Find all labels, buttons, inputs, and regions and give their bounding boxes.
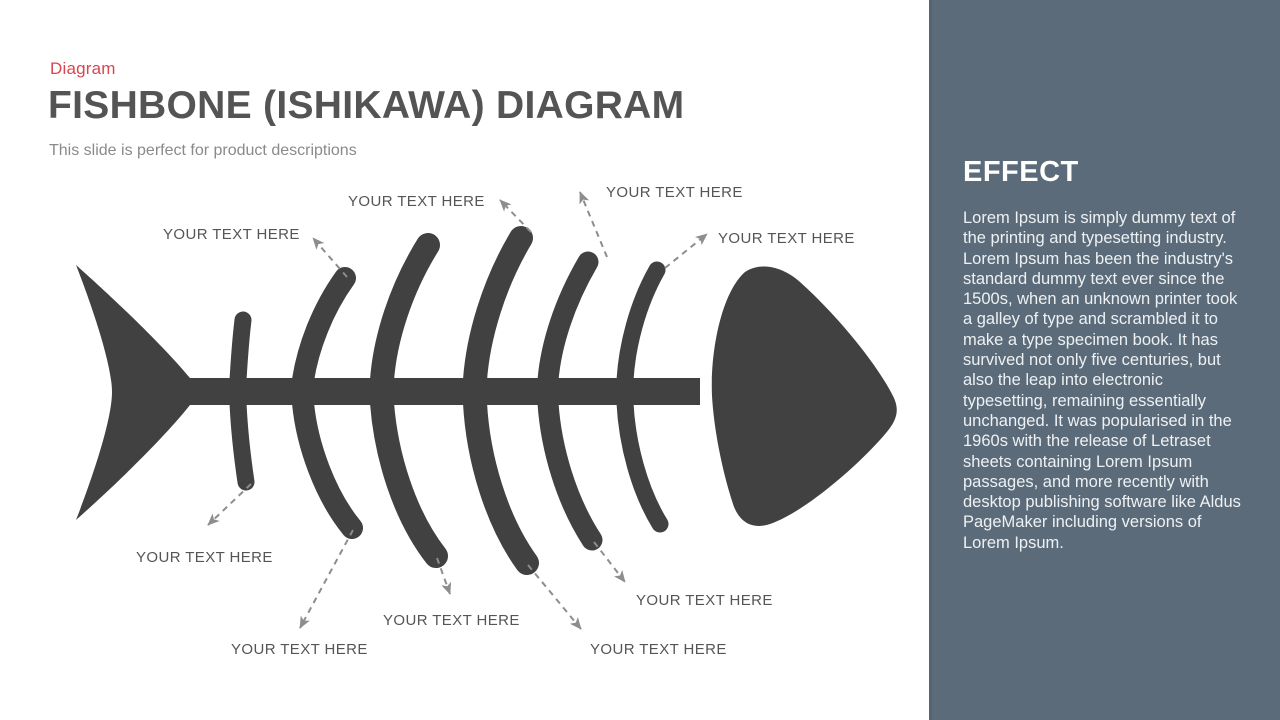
bone-label-bottom-2[interactable]: YOUR TEXT HERE: [231, 641, 368, 658]
rib-3-lower: [475, 403, 527, 563]
fishbone-diagram: YOUR TEXT HERE YOUR TEXT HERE YOUR TEXT …: [0, 0, 929, 720]
leader-bottom-4: [528, 565, 581, 629]
fish-tail-shape: [76, 265, 215, 520]
rib-5-upper: [625, 270, 657, 380]
rib-0-upper: [238, 320, 243, 380]
bone-label-top-4[interactable]: YOUR TEXT HERE: [718, 230, 855, 247]
rib-1-lower: [303, 403, 352, 528]
rib-4-lower: [548, 403, 592, 540]
rib-4-upper: [548, 262, 588, 380]
bone-label-bottom-4[interactable]: YOUR TEXT HERE: [590, 641, 727, 658]
bone-label-bottom-1[interactable]: YOUR TEXT HERE: [136, 549, 273, 566]
rib-2-upper: [382, 245, 428, 380]
fish-head-shape: [712, 267, 897, 526]
bone-label-bottom-3[interactable]: YOUR TEXT HERE: [383, 612, 520, 629]
rib-1-upper: [303, 278, 345, 380]
effect-panel-body: Lorem Ipsum is simply dummy text of the …: [963, 208, 1247, 553]
rib-2-lower: [382, 403, 436, 556]
bone-label-top-3[interactable]: YOUR TEXT HERE: [606, 184, 743, 201]
bone-label-bottom-5[interactable]: YOUR TEXT HERE: [636, 592, 773, 609]
effect-panel: EFFECT Lorem Ipsum is simply dummy text …: [929, 0, 1280, 720]
slide-canvas: Diagram FISHBONE (ISHIKAWA) DIAGRAM This…: [0, 0, 1280, 720]
leader-top-4: [665, 234, 707, 268]
rib-5-lower: [625, 403, 660, 524]
bone-label-top-1[interactable]: YOUR TEXT HERE: [163, 226, 300, 243]
rib-3-upper: [475, 238, 521, 380]
rib-0-lower: [238, 403, 246, 482]
effect-panel-title: EFFECT: [963, 156, 1079, 189]
bone-label-top-2[interactable]: YOUR TEXT HERE: [348, 193, 485, 210]
leader-top-2: [500, 200, 531, 232]
leader-top-3: [580, 192, 607, 257]
leader-bottom-2: [300, 530, 353, 628]
